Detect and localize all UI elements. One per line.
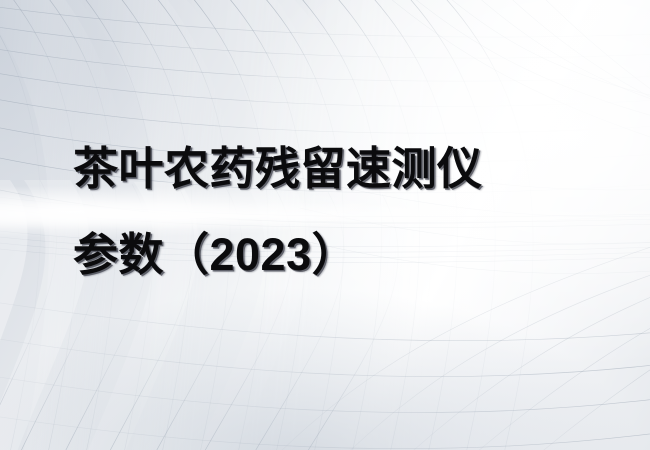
title-line-2: 参数（2023） <box>73 212 593 298</box>
page-title: 茶叶农药残留速测仪 参数（2023） <box>73 126 593 298</box>
title-line-1: 茶叶农药残留速测仪 <box>73 126 593 212</box>
title-banner: 茶叶农药残留速测仪 参数（2023） <box>0 0 650 450</box>
